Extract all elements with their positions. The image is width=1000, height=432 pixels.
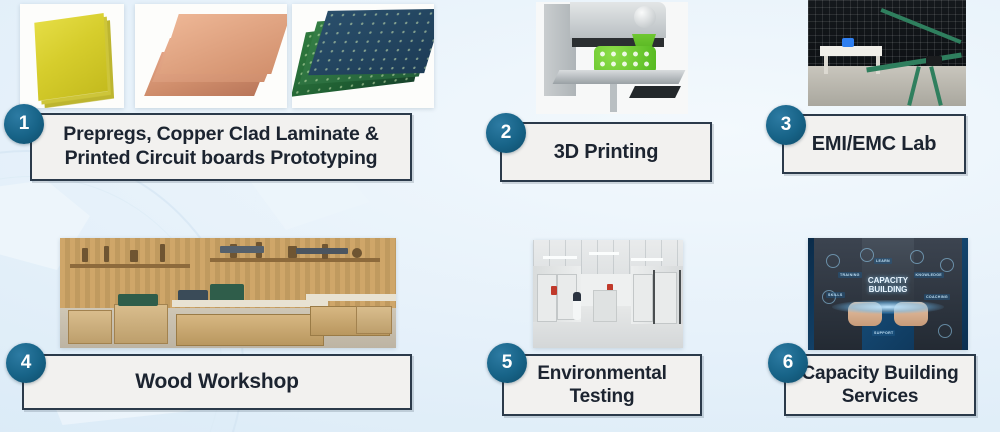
door-rail-icon — [679, 270, 681, 324]
network-node-icon — [860, 248, 874, 262]
card-4-image-wood-workshop — [60, 238, 396, 348]
card-6-label-line2: Services — [842, 386, 919, 407]
card-5-label-line1: Environmental — [537, 363, 666, 384]
wall-rack-icon — [296, 248, 348, 254]
printer-bed-icon — [553, 70, 686, 84]
test-table-icon — [820, 46, 882, 56]
printer-head-icon — [570, 2, 666, 38]
hand-tool-icon — [82, 248, 88, 262]
capacity-line2: BUILDING — [869, 285, 908, 294]
table-leg-icon — [824, 56, 828, 74]
card-2-label-plate[interactable]: 3D Printing — [500, 122, 712, 182]
storage-cabinet-icon — [114, 304, 168, 344]
tag-coaching: COACHING — [924, 294, 950, 300]
tag-skills: SKILLS — [826, 292, 845, 298]
card-2-label: 3D Printing — [554, 140, 658, 164]
chamber-door-icon — [633, 274, 653, 322]
card-1-label-plate[interactable]: Prepregs, Copper Clad Laminate & Printed… — [30, 113, 412, 181]
card-1-image-pcb — [292, 4, 434, 108]
network-node-icon — [910, 250, 924, 264]
door-rail-icon — [653, 270, 655, 324]
card-4-label: Wood Workshop — [135, 369, 298, 395]
wall-rack-icon — [220, 246, 264, 253]
copper-sheet-icon — [159, 14, 287, 74]
card-6-number-badge: 6 — [768, 343, 808, 383]
card-1-image-copper-clad — [135, 4, 287, 108]
card-6-label-line1: Capacity Building — [801, 363, 958, 384]
storage-cabinet-icon — [356, 306, 392, 334]
card-3-number-badge: 3 — [766, 105, 806, 145]
ceiling-light-icon — [631, 258, 663, 261]
storage-cabinet-icon — [68, 310, 112, 344]
machine-icon — [118, 294, 158, 306]
device-under-test-icon — [842, 38, 854, 47]
holographic-glow-icon — [832, 300, 944, 314]
hand-tool-icon — [352, 248, 362, 258]
antenna-hub-icon — [926, 56, 942, 66]
hand-tool-icon — [104, 246, 109, 262]
infographic-canvas: 1 Prepregs, Copper Clad Laminate & Print… — [0, 0, 1000, 432]
chamber-floor-icon — [808, 66, 966, 106]
test-equipment-icon — [593, 290, 617, 322]
pcb-board-icon — [308, 9, 434, 75]
card-1-image-prepreg — [20, 4, 124, 108]
card-1-number-badge: 1 — [4, 104, 44, 144]
workbench-top-icon — [306, 294, 396, 301]
card-3-label: EMI/EMC Lab — [812, 132, 936, 156]
card-2-number-badge: 2 — [486, 113, 526, 153]
capacity-building-overlay-text: CAPACITY BUILDING — [852, 276, 924, 294]
printer-knob-icon — [634, 6, 656, 28]
warning-marker-icon — [551, 286, 557, 295]
chamber-door-icon — [537, 274, 557, 322]
hand-tool-icon — [160, 244, 165, 262]
card-2-image-3d-printer — [536, 2, 688, 114]
ceiling-light-icon — [589, 252, 619, 255]
hand-tool-icon — [130, 250, 138, 262]
card-5-label-line2: Testing — [570, 386, 635, 407]
chamber-door-icon — [653, 272, 677, 324]
workbench-top-icon — [172, 300, 328, 307]
card-4-label-plate[interactable]: Wood Workshop — [22, 354, 412, 410]
printer-leg-icon — [610, 84, 617, 112]
wall-shelf-icon — [70, 264, 190, 268]
card-5-number-badge: 5 — [487, 343, 527, 383]
wall-shelf-icon — [210, 258, 380, 262]
printer-base-icon — [629, 86, 681, 98]
network-node-icon — [938, 324, 952, 338]
card-5-label-plate[interactable]: Environmental Testing — [502, 354, 702, 416]
card-1-label-line2: Printed Circuit boards Prototyping — [65, 147, 378, 169]
card-3-image-anechoic-chamber — [808, 0, 966, 106]
network-node-icon — [826, 254, 840, 268]
card-6-label-plate[interactable]: Capacity Building Services — [784, 354, 976, 416]
card-3-label-plate[interactable]: EMI/EMC Lab — [782, 114, 966, 174]
card-5-image-environmental-hall — [533, 240, 683, 348]
capacity-line1: CAPACITY — [868, 276, 908, 285]
card-6-image-capacity-building: LEARN TRAINING KNOWLEDGE SKILLS COACHING… — [808, 238, 968, 350]
prepreg-sheet-icon — [34, 13, 107, 101]
card-4-number-badge: 4 — [6, 343, 46, 383]
ceiling-light-icon — [543, 256, 577, 259]
technician-icon — [573, 292, 581, 320]
network-node-icon — [940, 258, 954, 272]
tag-learn: LEARN — [874, 258, 892, 264]
tag-support: SUPPORT — [872, 330, 895, 336]
card-1-label-line1: Prepregs, Copper Clad Laminate & — [63, 123, 378, 145]
workbench-icon — [176, 314, 324, 346]
